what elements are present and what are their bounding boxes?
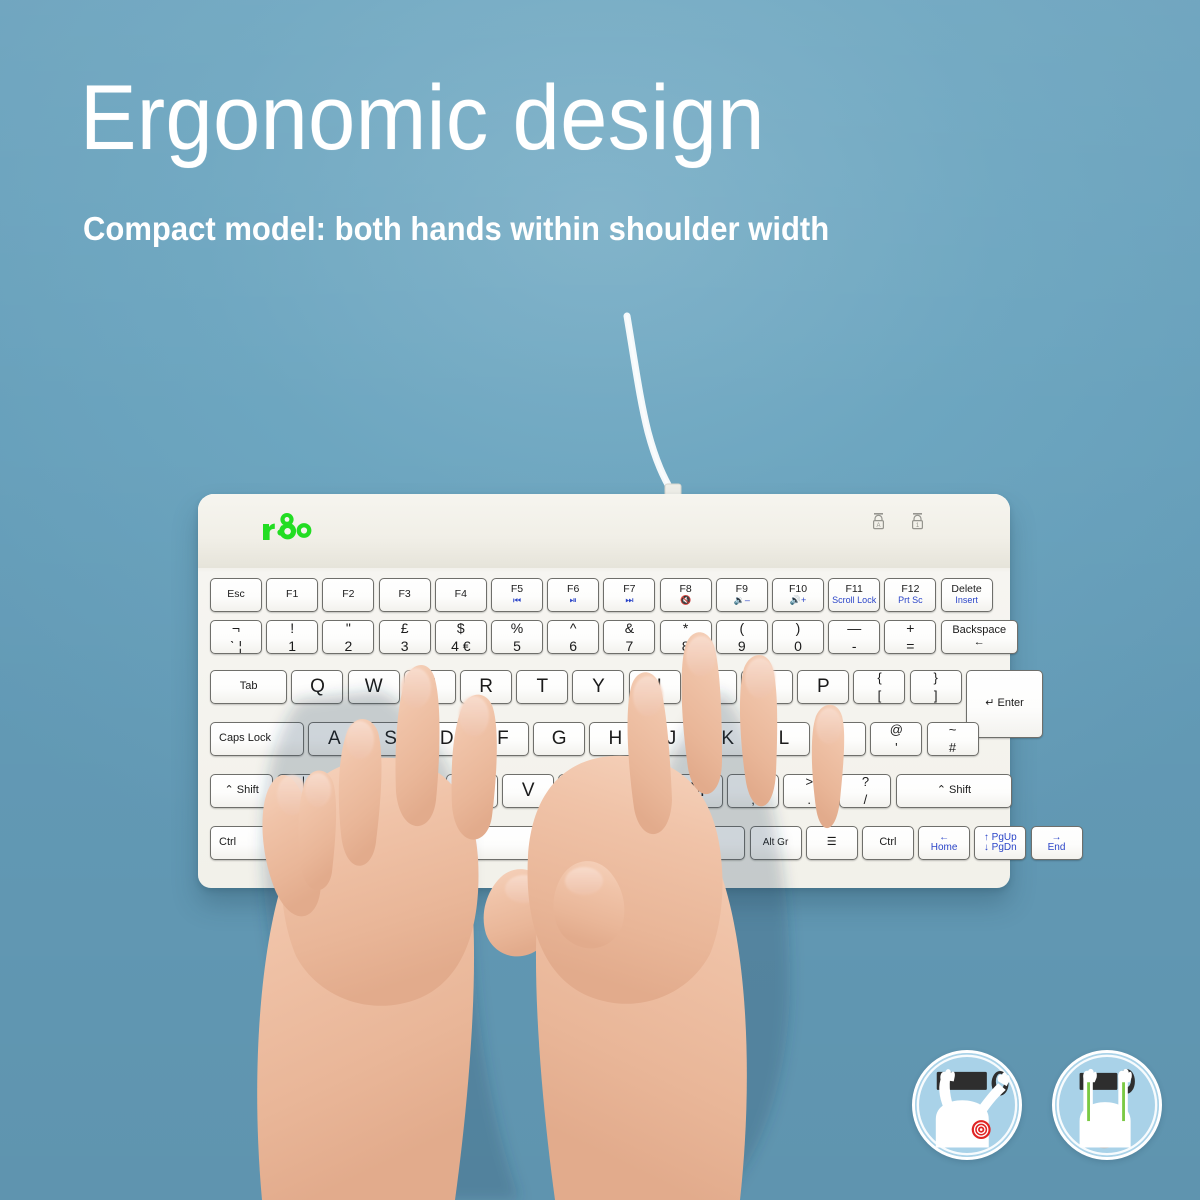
key-o[interactable]: O [741,670,793,704]
key-label-bottom: 1 [288,639,296,654]
key-label-bottom: 9 [738,639,746,654]
key-y[interactable]: Y [572,670,624,704]
key-w[interactable]: W [348,670,400,704]
key-blank[interactable]: !1 [266,620,318,654]
key-label-top: | [302,775,305,789]
key-label-top: G [552,729,567,749]
key-label-top: ↵ Enter [985,698,1024,710]
key-label-top: * [683,621,688,636]
key-label-bottom: 🔊+ [790,596,806,605]
key-label-top: Y [592,677,605,697]
key-f3[interactable]: F3 [379,578,431,612]
key-z[interactable]: Z [334,774,386,808]
key-label-top: Q [310,677,325,697]
key-label-top: M [689,781,705,801]
key-label-top: ☰ [827,837,837,849]
key-blank[interactable]: ¬ˋ ¦ [210,620,262,654]
key-label-top: £ [401,621,409,636]
key-f11[interactable]: F11Scroll Lock [828,578,880,612]
key-blank[interactable]: ←Home [918,826,970,860]
key-blank[interactable]: £3 [379,620,431,654]
key-label-top: < [749,775,757,789]
key-label-bottom: 🔇 [680,596,691,605]
key-blank[interactable]: |\ [277,774,329,808]
key-label-top: + [906,621,914,636]
key-f[interactable]: F [477,722,529,756]
key-label-top: J [667,729,677,749]
key-label-top: ! [290,621,294,636]
key-label-top: ❖ [355,837,365,849]
key-label-top: — [847,621,861,636]
key-label-top: F12 [901,584,919,595]
key-v[interactable]: V [502,774,554,808]
key-label-bottom: ← [974,637,985,649]
key-label-top: ⌃ Shift [224,785,258,797]
key-label-top: Esc [227,589,245,600]
key-label-top: S [384,729,397,749]
key-blank[interactable]: ☰ [806,826,858,860]
key-blank[interactable]: $4 € [435,620,487,654]
key-blank[interactable]: <, [727,774,779,808]
caps-lock-led: A [872,513,885,530]
good-posture-illustration [1055,1053,1159,1157]
key-x[interactable]: X [390,774,442,808]
key-alt[interactable]: Alt [390,826,442,860]
key-label-bottom: [ [878,689,882,703]
key-blank[interactable]: &7 [603,620,655,654]
key-d[interactable]: D [421,722,473,756]
key-label-bottom: Insert [955,596,978,605]
key-m[interactable]: M [671,774,723,808]
key-label-bottom: / [864,793,868,807]
key-blank[interactable]: :; [814,722,866,756]
key-label-bottom: 0 [794,639,802,654]
badge-bad-posture[interactable] [912,1050,1022,1160]
key-label-top: F6 [567,584,579,595]
key-f1[interactable]: F1 [266,578,318,612]
key-label-top: " [346,621,351,636]
key-label-top: F7 [623,584,635,595]
key-a[interactable]: A [308,722,360,756]
key-b[interactable]: B [558,774,610,808]
key-label-bottom: = [906,639,914,654]
key-label-top: ⌃ Shift [937,785,971,797]
key-label-bottom: \ [302,793,306,807]
key-label-top: $ [457,621,465,636]
key-k[interactable]: K [702,722,754,756]
key-label-top: L [779,729,790,749]
key-label-top: F4 [455,589,467,600]
key-f5[interactable]: F5⏮ [491,578,543,612]
keyboard-bezel: A 1 [198,494,1010,568]
key-label-bottom: , [751,793,755,807]
key-f2[interactable]: F2 [322,578,374,612]
key-label-top: > [805,775,813,789]
poster-stage: Ergonomic design Compact model: both han… [0,0,1200,1200]
key-label-top: F9 [736,584,748,595]
key-label-top: F3 [398,589,410,600]
key-ctrl[interactable]: Ctrl [862,826,914,860]
key-label-top: R [479,677,493,697]
key-label-top: Alt [409,837,422,849]
key-label-top: ¬ [232,621,240,636]
key-blank[interactable]: %5 [491,620,543,654]
key-pgup[interactable]: ↑ PgUp↓ PgDn [974,826,1026,860]
key-label-bottom: ⏮ [513,596,521,605]
key-blank[interactable]: ?/ [839,774,891,808]
key-label-top: % [511,621,523,636]
key-blank[interactable]: += [884,620,936,654]
key-n[interactable]: N [615,774,667,808]
key-label-top: ? [862,775,869,789]
key-l[interactable]: L [758,722,810,756]
key-h[interactable]: H [589,722,641,756]
key-label-bottom: 7 [625,639,633,654]
key-q[interactable]: Q [291,670,343,704]
key-label-top: U [648,677,662,697]
key-label-top: F8 [679,584,691,595]
key-blank[interactable]: "2 [322,620,374,654]
key-tab[interactable]: Tab [210,670,287,704]
key-g[interactable]: G [533,722,585,756]
indicator-leds: A 1 [872,513,924,530]
key-label-bottom: ] [934,689,938,703]
key-label-top: H [608,729,622,749]
key-label-top: Tab [240,681,258,693]
key-label-top: A [328,729,341,749]
key-label-top: ~ [949,723,957,737]
key-j[interactable]: J [646,722,698,756]
key-blank[interactable]: }] [910,670,962,704]
key-label-bottom: ⏯ [570,596,577,605]
key-label-top: B [578,781,591,801]
key-label-bottom: ⏭ [625,596,633,605]
key-label-top: V [522,781,535,801]
key-label-top: Caps Lock [219,733,271,745]
key-blank[interactable]: →End [1031,826,1083,860]
key-label-bottom: ˋ ¦ [230,639,242,654]
key-f10[interactable]: F10🔊+ [772,578,824,612]
key-label-top: { [877,671,881,685]
key-label-top: ) [796,621,801,636]
key-caps-lock[interactable]: Caps Lock [210,722,304,756]
key-label-top: F [497,729,509,749]
key-f6[interactable]: F6⏯ [547,578,599,612]
key-blank[interactable]: ❖ [334,826,386,860]
r-go-compact-keyboard[interactable]: A 1 EscF1F2F3F4F5⏮F6⏯F7⏭F8🔇F9🔉–F10🔊+F11S… [198,494,1010,888]
key-blank[interactable]: {[ [853,670,905,704]
key-label-top: F1 [286,589,298,600]
key-label-top: D [440,729,454,749]
key-fn[interactable]: Fn [277,826,329,860]
key-label-bottom: 2 [344,639,352,654]
r-go-logo [260,511,312,547]
key-r[interactable]: R [460,670,512,704]
key-label-top: Ctrl [879,837,896,849]
key-label-top: T [536,677,548,697]
key-label-bottom: 🔉– [734,596,750,605]
key-label-top: : [838,723,842,737]
key-label-top: Fn [297,837,310,849]
key-blank[interactable] [446,826,745,860]
key-label-top: P [817,677,830,697]
key-label-bottom: ' [895,741,897,755]
key-label-top: C [465,781,479,801]
key-label-bottom: 8 [682,639,690,654]
key-blank[interactable]: )0 [772,620,824,654]
key-label-top: F2 [342,589,354,600]
key-label-bottom: - [852,639,857,654]
key-label-top: F11 [846,584,863,595]
key-ctrl[interactable]: Ctrl [210,826,273,860]
key-backspace[interactable]: Backspace← [941,620,1018,654]
key-label-bottom: Home [931,843,958,854]
key-label-top: Delete [951,584,981,595]
key-t[interactable]: T [516,670,568,704]
key-label-top: & [625,621,634,636]
key-blank[interactable]: ~# [927,722,979,756]
key-blank[interactable]: @' [870,722,922,756]
key-label-top: ^ [570,621,577,636]
key-f4[interactable]: F4 [435,578,487,612]
key-label-top: @ [890,723,903,737]
key-label-bottom: . [807,793,811,807]
key-c[interactable]: C [446,774,498,808]
key-label-top: } [934,671,938,685]
key-label-top: ( [739,621,744,636]
key-blank[interactable]: (9 [716,620,768,654]
key-label-top: K [721,729,734,749]
key-label-top: F10 [789,584,807,595]
key-label-bottom: ; [838,741,842,755]
key-label-bottom: ↓ PgDn [984,843,1017,854]
key-label-top: N [634,781,648,801]
key-label-top: Alt Gr [763,838,789,849]
key-f8[interactable]: F8🔇 [660,578,712,612]
key-delete[interactable]: DeleteInsert [941,578,993,612]
key-f12[interactable]: F12Prt Sc [884,578,936,612]
key-label-top: X [409,781,422,801]
key-label-top: Z [354,781,366,801]
page-title: Ergonomic design [80,72,765,164]
key-blank[interactable]: —- [828,620,880,654]
key-esc[interactable]: Esc [210,578,262,612]
key-label-top: W [365,677,383,697]
key-label-bottom: Scroll Lock [832,596,876,605]
key-e[interactable]: E [404,670,456,704]
key-blank[interactable]: *8 [660,620,712,654]
key-shift[interactable]: ⌃ Shift [210,774,273,808]
key-i[interactable]: I [685,670,737,704]
key-label-top: I [708,677,713,697]
key-label-top: O [760,677,775,697]
key-label-bottom: 6 [569,639,577,654]
key-blank[interactable]: ^6 [547,620,599,654]
num-lock-led: 1 [911,513,924,530]
key-f7[interactable]: F7⏭ [603,578,655,612]
key-label-bottom: # [949,741,956,755]
page-subtitle: Compact model: both hands within shoulde… [83,211,829,247]
key-label-top: Ctrl [219,837,236,849]
key-blank[interactable]: >. [783,774,835,808]
bad-posture-illustration [915,1053,1019,1157]
key-label-bottom: 4 € [451,639,470,654]
badge-good-posture[interactable] [1052,1050,1162,1160]
key-s[interactable]: S [365,722,417,756]
key-label-bottom: End [1048,843,1066,854]
svg-text:A: A [876,523,880,529]
key-p[interactable]: P [797,670,849,704]
key-label-top: E [424,677,437,697]
key-f9[interactable]: F9🔉– [716,578,768,612]
key-label-bottom: 5 [513,639,521,654]
key-label-top: F5 [511,584,523,595]
key-u[interactable]: U [629,670,681,704]
key-label-bottom: 3 [401,639,409,654]
key-alt-gr[interactable]: Alt Gr [750,826,802,860]
key-label-bottom: Prt Sc [898,596,923,605]
key-shift[interactable]: ⌃ Shift [896,774,1013,808]
